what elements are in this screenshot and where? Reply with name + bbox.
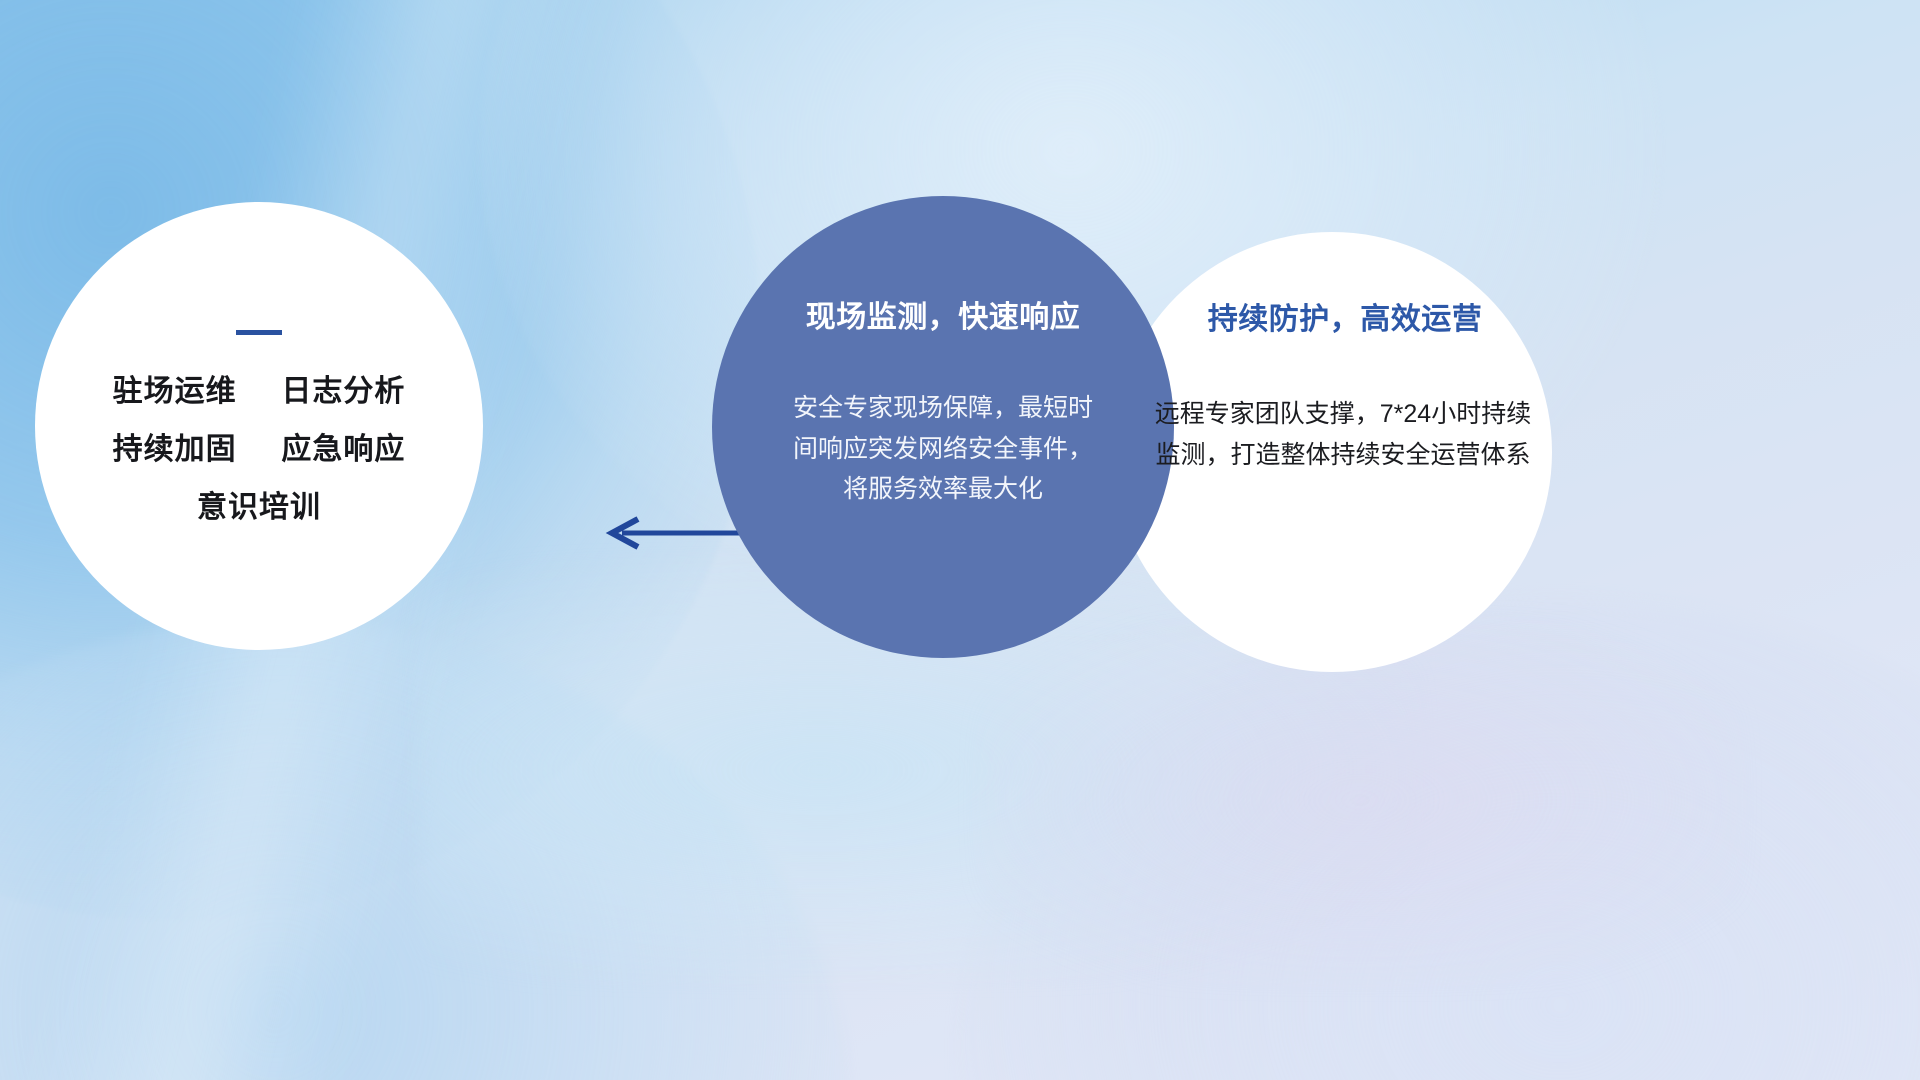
center-circle-title: 现场监测，快速响应 <box>806 292 1081 336</box>
keyword-row-1: 驻场运维 日志分析 <box>113 377 406 407</box>
background-sheen-right <box>980 620 1740 980</box>
slide-canvas: 驻场运维 日志分析 持续加固 应急响应 意识培训 现场监测，快速响应 安全专家现… <box>0 0 1920 1080</box>
right-capability-circle[interactable] <box>1112 232 1552 672</box>
center-circle-body: 安全专家现场保障，最短时间响应突发网络安全事件，将服务效率最大化 <box>793 388 1093 510</box>
center-capability-circle[interactable]: 现场监测，快速响应 安全专家现场保障，最短时间响应突发网络安全事件，将服务效率最… <box>712 196 1174 658</box>
keyword-rizhi-fenxi: 日志分析 <box>281 375 405 408</box>
keyword-chixu-jiagu: 持续加固 <box>113 433 237 466</box>
keyword-zhuchang-yunwei: 驻场运维 <box>113 375 237 408</box>
keyword-yishi-peixun: 意识培训 <box>197 491 321 524</box>
keyword-row-2: 持续加固 应急响应 <box>113 435 406 465</box>
keyword-row-3: 意识培训 <box>197 493 321 523</box>
keyword-yingji-xiangying: 应急响应 <box>281 433 405 466</box>
left-capability-circle[interactable]: 驻场运维 日志分析 持续加固 应急响应 意识培训 <box>35 202 483 650</box>
title-divider <box>236 330 282 335</box>
